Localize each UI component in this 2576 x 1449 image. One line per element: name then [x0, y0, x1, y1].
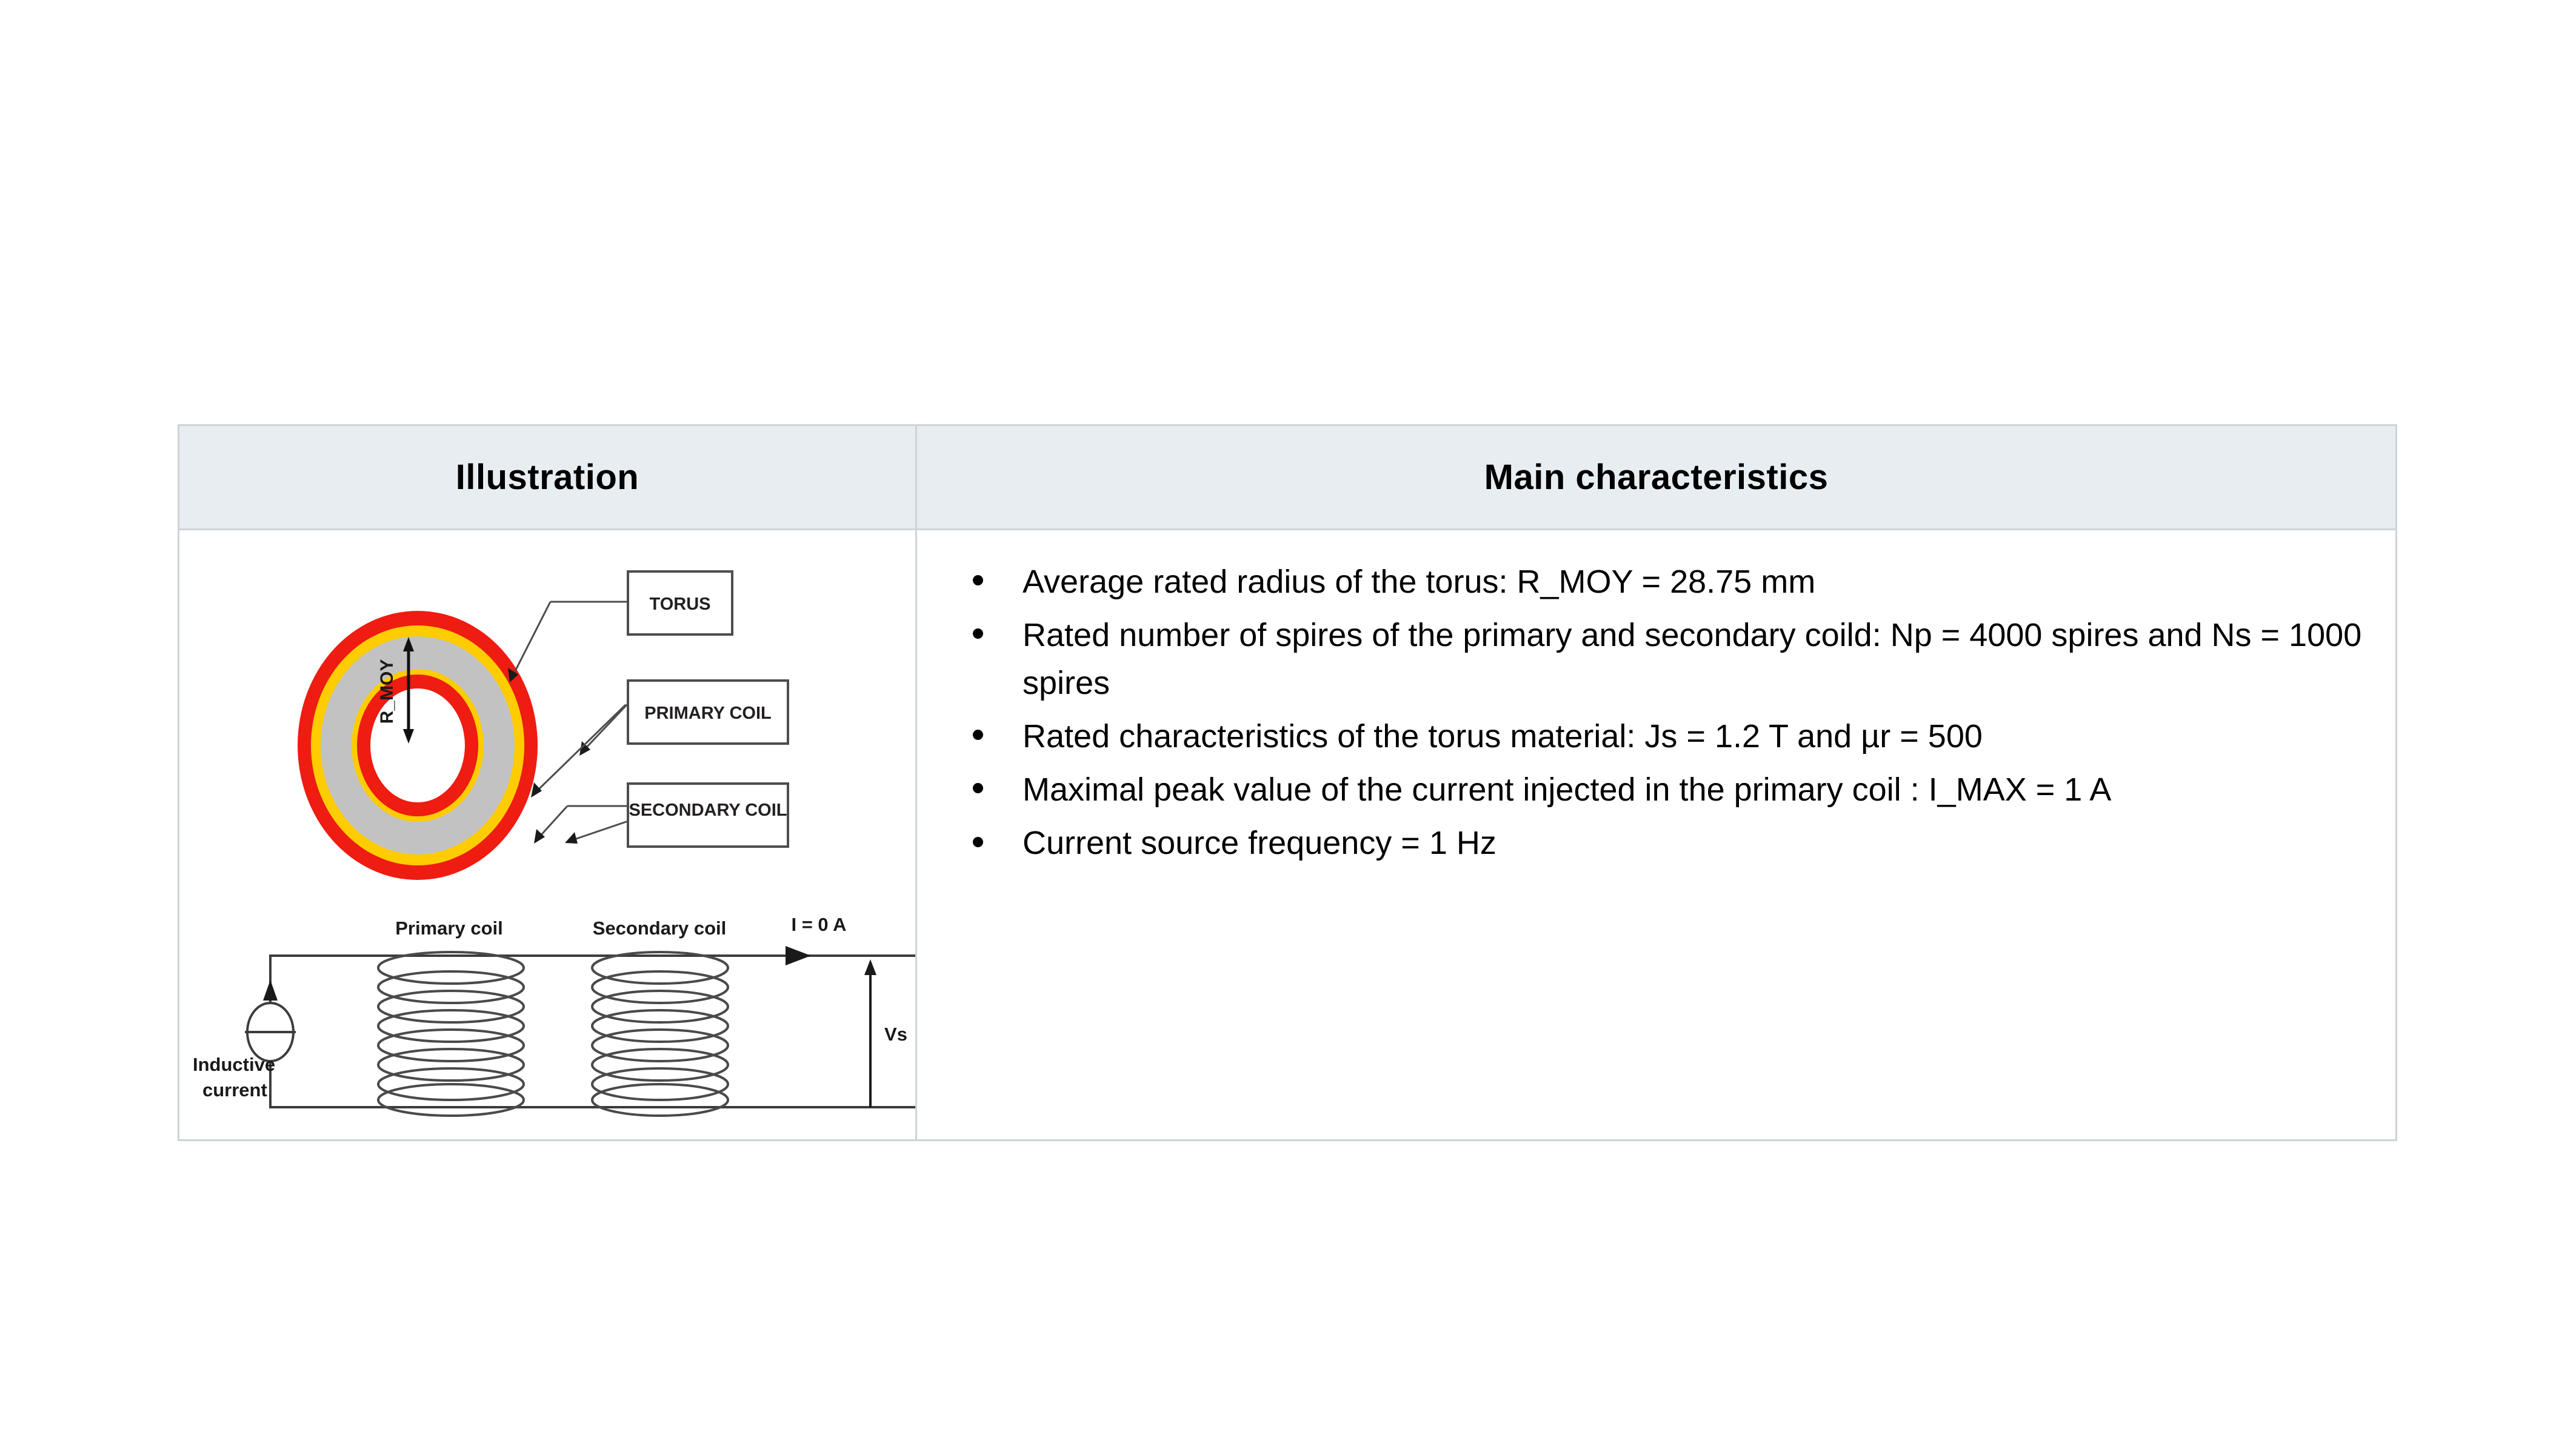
current-value-label: I = 0 A: [791, 914, 846, 935]
characteristic-text: Maximal peak value of the current inject…: [1023, 771, 2111, 808]
list-item: Current source frequency = 1 Hz: [964, 819, 2371, 867]
primary-coil-text-label: Primary coil: [395, 918, 502, 939]
secondary-coil-text-label: Secondary coil: [593, 918, 727, 939]
table-header-cell-illustration: Illustration: [179, 426, 917, 528]
table-body-row: R_MOY TORUS PRIMARY COIL: [179, 530, 2395, 1139]
bullet-icon: [973, 628, 983, 639]
bullet-icon: [973, 730, 983, 740]
callout-label-primary-coil: PRIMARY COIL: [644, 704, 771, 723]
secondary-current-arrow: [786, 946, 811, 965]
inductive-current-arrow: [263, 980, 278, 1001]
bullet-icon: [973, 783, 983, 793]
inductive-current-label-line2: current: [202, 1079, 267, 1101]
bullet-icon: [973, 575, 983, 585]
inductive-current-label-line1: Inductive: [193, 1054, 275, 1075]
illustration-column-title: Illustration: [456, 458, 639, 497]
list-item: Rated number of spires of the primary an…: [964, 611, 2371, 707]
list-item: Maximal peak value of the current inject…: [964, 766, 2371, 813]
callout-torus: TORUS: [508, 571, 732, 682]
vs-voltage-arrow: [864, 959, 876, 1107]
characteristic-text: Average rated radius of the torus: R_MOY…: [1023, 564, 1815, 600]
torus-cross-section: [298, 611, 538, 880]
specification-table: Illustration Main characteristics: [178, 424, 2397, 1141]
table-header-row: Illustration Main characteristics: [179, 426, 2395, 530]
bullet-icon: [973, 837, 983, 847]
secondary-coil-winding: [592, 952, 728, 1116]
characteristics-list: Average rated radius of the torus: R_MOY…: [917, 530, 2395, 867]
table-cell-illustration: R_MOY TORUS PRIMARY COIL: [179, 530, 917, 1139]
callout-primary-coil: PRIMARY COIL: [531, 681, 788, 798]
transformer-circuit: Primary coil Secondary coil I = 0 A: [193, 914, 915, 1116]
r-moy-label: R_MOY: [377, 659, 397, 724]
illustration-figure: R_MOY TORUS PRIMARY COIL: [179, 530, 915, 1139]
table-cell-characteristics: Average rated radius of the torus: R_MOY…: [917, 530, 2395, 1139]
characteristics-column-title: Main characteristics: [1484, 458, 1829, 497]
characteristic-text: Current source frequency = 1 Hz: [1023, 825, 1497, 861]
characteristic-text: Rated characteristics of the torus mater…: [1023, 718, 1983, 754]
table-header-cell-characteristics: Main characteristics: [917, 426, 2395, 528]
list-item: Average rated radius of the torus: R_MOY…: [964, 558, 2371, 605]
illustration-svg: R_MOY TORUS PRIMARY COIL: [179, 530, 915, 1139]
list-item: Rated characteristics of the torus mater…: [964, 713, 2371, 760]
characteristic-text: Rated number of spires of the primary an…: [1023, 617, 2361, 701]
primary-coil-winding: [378, 952, 524, 1116]
vs-label: Vs: [884, 1024, 907, 1045]
callout-label-torus: TORUS: [650, 595, 711, 614]
callout-label-secondary-coil: SECONDARY COIL: [629, 801, 787, 820]
callout-secondary-coil: SECONDARY COIL: [534, 784, 788, 847]
